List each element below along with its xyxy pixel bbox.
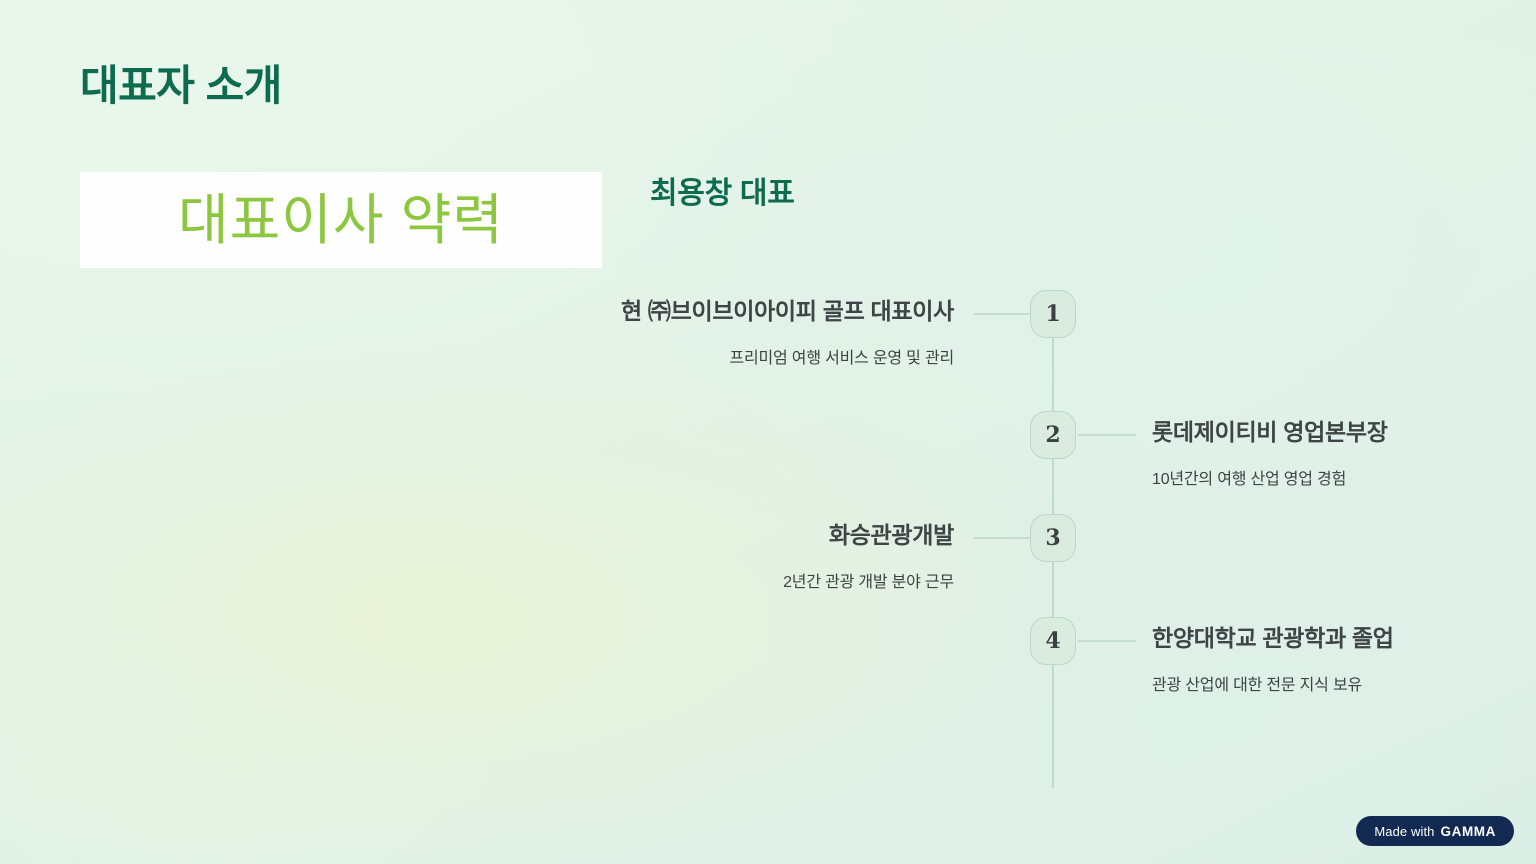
gamma-badge-prefix: Made with [1374, 824, 1434, 839]
timeline-node-1[interactable]: 1 [1030, 290, 1076, 338]
gamma-logo-icon: GAMMA [1441, 824, 1497, 839]
timeline-entry-1: 현 ㈜브이브이아이피 골프 대표이사 프리미엄 여행 서비스 운영 및 관리 [534, 296, 954, 371]
timeline-entry-desc: 2년간 관광 개발 분야 근무 [534, 572, 954, 594]
slide-canvas: 대표자 소개 대표이사 약력 최용창 대표 1 현 ㈜브이브이아이피 골프 대표… [0, 0, 1536, 864]
timeline-connector-2 [1078, 434, 1136, 436]
timeline-connector-1 [974, 313, 1030, 315]
timeline-node-2[interactable]: 2 [1030, 411, 1076, 459]
timeline-connector-4 [1078, 640, 1136, 642]
timeline-entry-desc: 프리미엄 여행 서비스 운영 및 관리 [534, 348, 954, 370]
timeline-entry-4: 한양대학교 관광학과 졸업 관광 산업에 대한 전문 지식 보유 [1152, 623, 1536, 698]
timeline-entry-3: 화승관광개발 2년간 관광 개발 분야 근무 [534, 520, 954, 595]
timeline-entry-desc: 관광 산업에 대한 전문 지식 보유 [1152, 675, 1536, 697]
timeline-connector-3 [974, 537, 1030, 539]
timeline-entry-desc: 10년간의 여행 산업 영업 경험 [1152, 469, 1536, 491]
made-with-gamma-badge[interactable]: Made with GAMMA [1356, 816, 1514, 846]
timeline-node-3[interactable]: 3 [1030, 514, 1076, 562]
timeline-node-4[interactable]: 4 [1030, 617, 1076, 665]
person-name: 최용창 대표 [650, 168, 795, 212]
timeline-entry-title: 한양대학교 관광학과 졸업 [1152, 623, 1536, 653]
timeline-entry-title: 롯데제이티비 영업본부장 [1152, 417, 1536, 447]
timeline-spine [1052, 338, 1054, 788]
timeline-entry-title: 화승관광개발 [534, 520, 954, 550]
timeline: 최용창 대표 1 현 ㈜브이브이아이피 골프 대표이사 프리미엄 여행 서비스 … [0, 0, 1536, 864]
timeline-entry-title: 현 ㈜브이브이아이피 골프 대표이사 [534, 296, 954, 326]
timeline-entry-2: 롯데제이티비 영업본부장 10년간의 여행 산업 영업 경험 [1152, 417, 1536, 492]
